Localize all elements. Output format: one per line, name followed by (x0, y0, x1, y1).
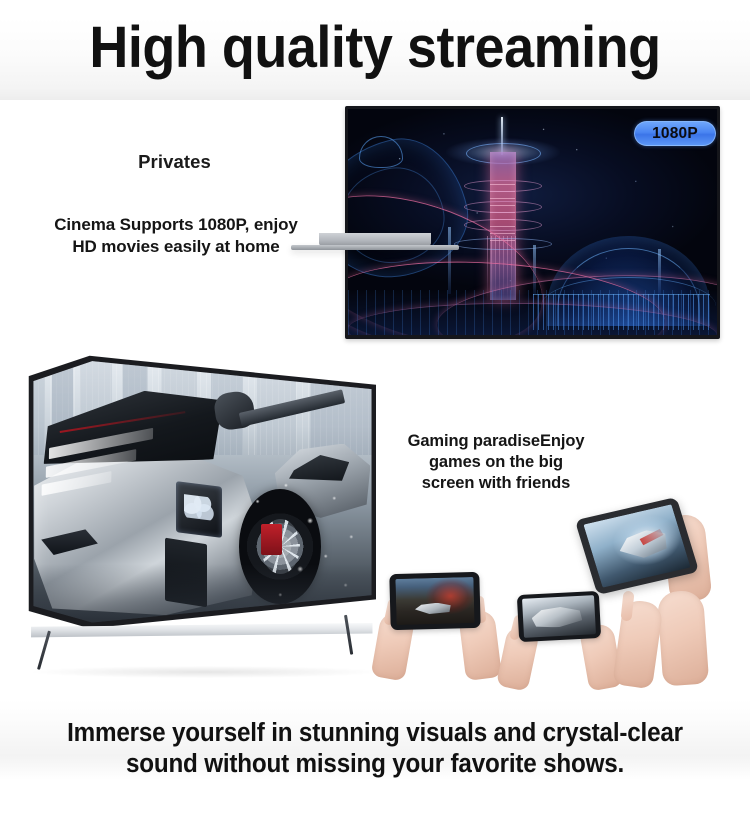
ground-grid (348, 290, 717, 335)
hero-car-headlight (176, 481, 222, 538)
tablet-right-screen (583, 504, 690, 587)
gaming-description-line-2: games on the big (372, 452, 620, 473)
product-feature-page: High quality streaming Privates Cinema S… (0, 0, 750, 817)
title-band: High quality streaming (0, 0, 750, 100)
gaming-description: Gaming paradiseEnjoy games on the big sc… (372, 431, 620, 494)
smartphone-center[interactable] (517, 591, 601, 642)
tv-bezel: 1080P (345, 106, 720, 339)
footer-caption-line-2: sound without missing your favorite show… (19, 749, 732, 780)
cinema-description-line-1: Cinema Supports 1080P, enjoy (26, 214, 326, 236)
page-title: High quality streaming (26, 13, 724, 83)
footer-caption: Immerse yourself in stunning visuals and… (19, 718, 732, 780)
tower-spire (501, 117, 503, 156)
curved-tv-shadow (32, 666, 378, 678)
hero-car-brake-caliper (261, 524, 282, 555)
tablet-left-screen (395, 577, 474, 625)
resolution-badge-1080p: 1080P (634, 121, 716, 146)
gaming-description-line-1: Gaming paradiseEnjoy (372, 431, 620, 452)
cinema-description-line-2: HD movies easily at home (26, 236, 326, 258)
handheld-devices-group (370, 495, 750, 695)
tv-stand-base (291, 245, 459, 250)
footer-caption-line-1: Immerse yourself in stunning visuals and… (19, 718, 732, 749)
hand-right-tablet-support (612, 599, 664, 690)
phone-center-screen (522, 595, 596, 638)
flat-screen-tv: 1080P (345, 106, 720, 339)
curved-tv-screen-racing-scene (20, 352, 374, 638)
tablet-landscape-left[interactable] (389, 572, 480, 630)
privates-heading: Privates (62, 151, 287, 173)
cinema-description: Cinema Supports 1080P, enjoy HD movies e… (26, 214, 326, 258)
hand-right-tablet-pointing (657, 590, 709, 687)
curved-tv-leg-right (344, 615, 353, 655)
gaming-description-line-3: screen with friends (372, 473, 620, 494)
racing-game-scene (20, 352, 374, 638)
curved-screen-tv (18, 350, 388, 680)
